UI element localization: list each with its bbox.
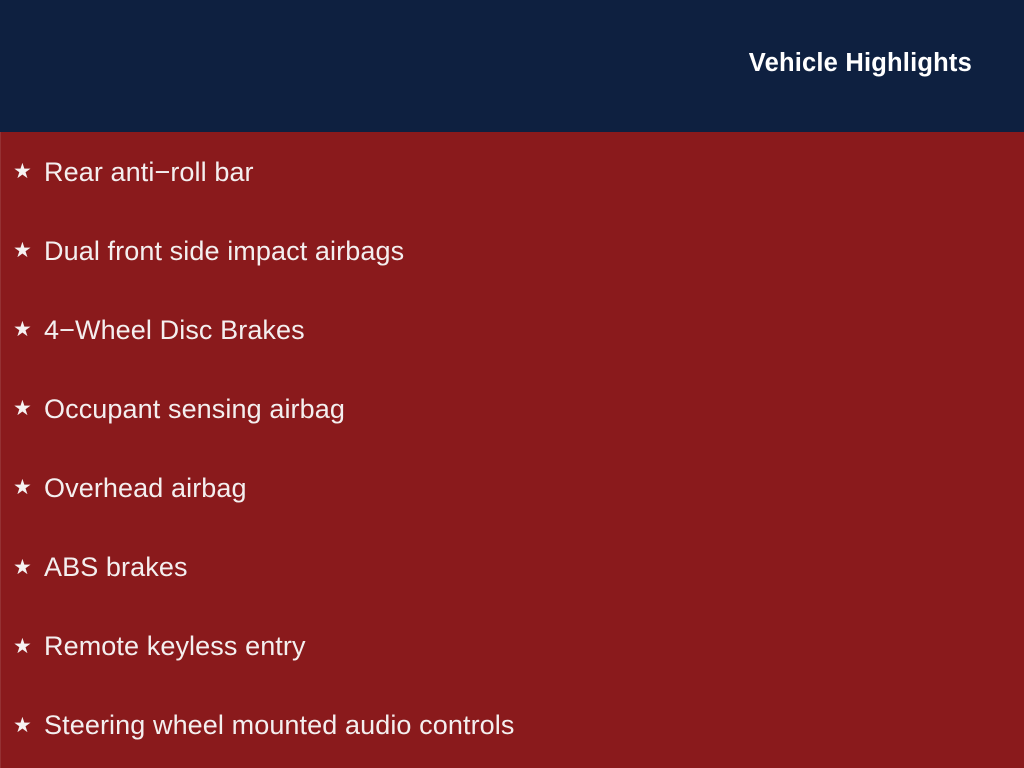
star-icon: ★ (13, 161, 43, 182)
list-item-label: Remote keyless entry (44, 629, 306, 663)
list-item-label: ABS brakes (44, 550, 188, 584)
highlights-body: ★ Rear anti−roll bar ★ Dual front side i… (0, 132, 1024, 768)
list-item-label: Dual front side impact airbags (44, 234, 404, 268)
list-item: ★ Rear anti−roll bar (0, 132, 1024, 211)
list-item: ★ Dual front side impact airbags (0, 211, 1024, 290)
list-item-label: Steering wheel mounted audio controls (44, 708, 515, 742)
list-item: ★ ABS brakes (0, 527, 1024, 606)
list-item-label: Rear anti−roll bar (44, 155, 254, 189)
list-item: ★ 4−Wheel Disc Brakes (0, 290, 1024, 369)
list-item-label: Occupant sensing airbag (44, 392, 345, 426)
left-edge-divider (0, 132, 1, 768)
star-icon: ★ (13, 319, 43, 340)
page-title: Vehicle Highlights (749, 47, 972, 79)
list-item: ★ Steering wheel mounted audio controls (0, 686, 1024, 765)
star-icon: ★ (13, 240, 43, 261)
list-item: ★ Remote keyless entry (0, 607, 1024, 686)
list-item: ★ Overhead airbag (0, 448, 1024, 527)
star-icon: ★ (13, 636, 43, 657)
star-icon: ★ (13, 477, 43, 498)
star-icon: ★ (13, 398, 43, 419)
star-icon: ★ (13, 715, 43, 736)
star-icon: ★ (13, 557, 43, 578)
list-item: ★ Occupant sensing airbag (0, 369, 1024, 448)
list-item-label: Overhead airbag (44, 471, 247, 505)
slide-header-bar: Vehicle Highlights (0, 0, 1024, 132)
vehicle-highlights-slide: Vehicle Highlights ★ Rear anti−roll bar … (0, 0, 1024, 768)
vehicle-highlights-list: ★ Rear anti−roll bar ★ Dual front side i… (0, 132, 1024, 765)
list-item-label: 4−Wheel Disc Brakes (44, 313, 305, 347)
